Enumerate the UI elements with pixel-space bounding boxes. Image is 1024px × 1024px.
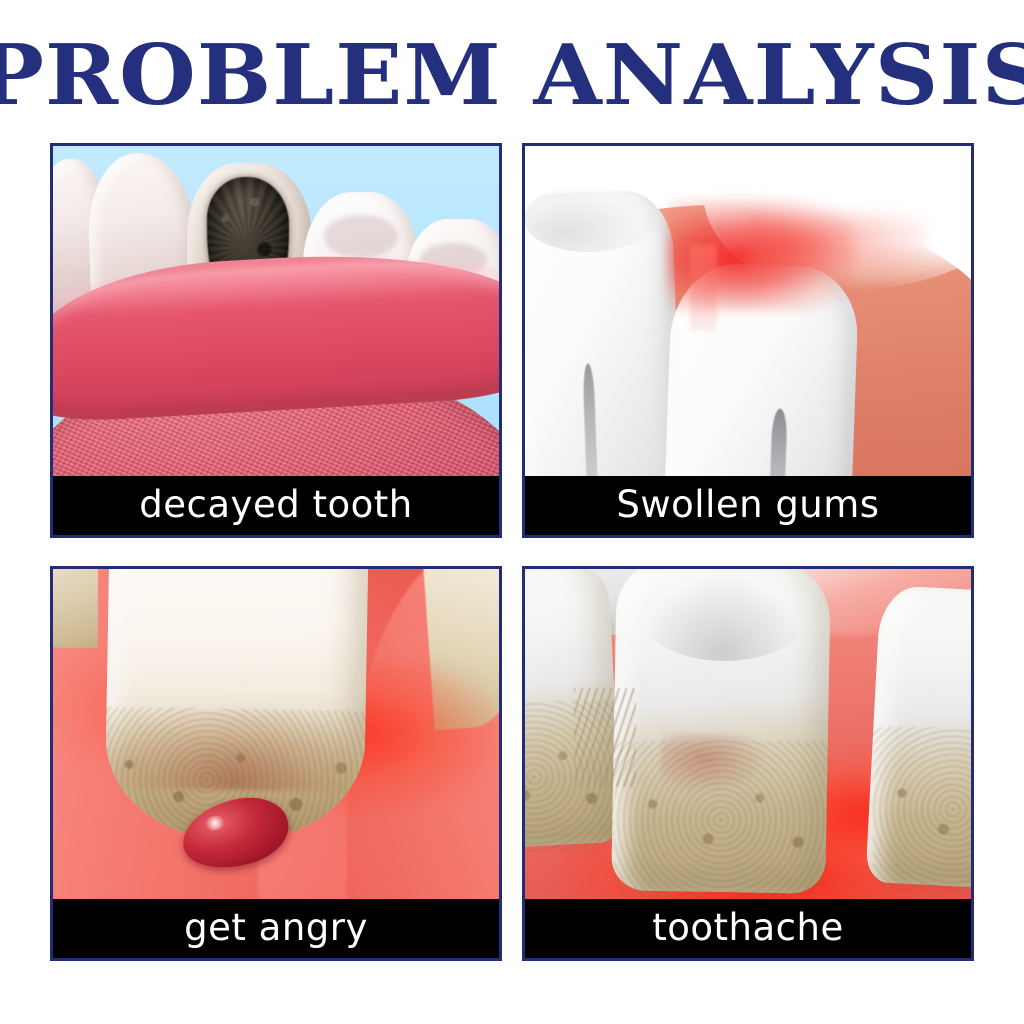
- get-angry-image: [53, 569, 499, 899]
- panel-label-swollen-gums: Swollen gums: [525, 476, 971, 535]
- interdental-gap: [690, 245, 717, 331]
- tartar-gumline-stain: [115, 707, 354, 792]
- panel-swollen-gums[interactable]: Swollen gums: [522, 143, 974, 538]
- panel-toothache[interactable]: toothache: [522, 566, 974, 961]
- tooth-neighbor-left: [53, 569, 98, 648]
- molar-cusp-groove: [324, 215, 398, 258]
- panel-get-angry[interactable]: get angry: [50, 566, 502, 961]
- tooth-left-with-root: [525, 189, 682, 476]
- poster-root: PROBLEM ANALYSIS deca: [0, 0, 1024, 1024]
- swollen-gums-image: [525, 146, 971, 476]
- panel-label-decayed-tooth: decayed tooth: [53, 476, 499, 535]
- tartar-left: [525, 701, 614, 853]
- panel-label-get-angry: get angry: [53, 899, 499, 958]
- tartar-right: [873, 727, 971, 892]
- decayed-tooth-image: [53, 146, 499, 476]
- page-title: PROBLEM ANALYSIS: [0, 34, 1024, 117]
- root-furcation-right: [768, 408, 787, 476]
- panel-grid: decayed tooth Swollen gums: [50, 143, 974, 961]
- tartar-center: [614, 741, 828, 899]
- root-furcation-left: [582, 363, 598, 476]
- panel-decayed-tooth[interactable]: decayed tooth: [50, 143, 502, 538]
- toothache-image: [525, 569, 971, 899]
- inflamed-gum-spread: [748, 212, 926, 278]
- panel-label-toothache: toothache: [525, 899, 971, 958]
